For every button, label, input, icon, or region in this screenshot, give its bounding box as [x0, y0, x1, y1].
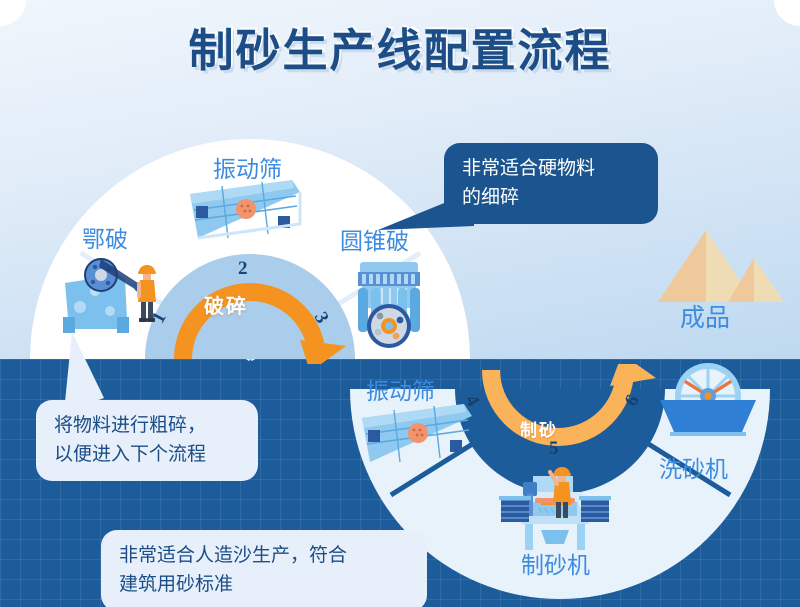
crushing-step-label-jaw: 鄂破	[82, 220, 128, 254]
crushing-step-number-2: 2	[238, 258, 248, 280]
sandmaking-step-number-5: 5	[549, 438, 559, 460]
jaw-crusher-note: 将物料进行粗碎， 以便进入下个流程	[36, 400, 258, 481]
sandmaking-step-label-screen: 振动筛	[366, 372, 435, 406]
vibrating-screen-icon-bottom	[358, 400, 478, 482]
cone-crusher-icon	[340, 258, 440, 354]
sandmaking-arc	[460, 364, 665, 474]
crushing-step-label-screen: 振动筛	[213, 150, 282, 184]
sand-washer-icon	[648, 360, 768, 450]
vibrating-screen-icon-top	[186, 176, 306, 258]
worker-sandmaker-icon	[548, 464, 576, 520]
sand-maker-note-line-1: 非常适合人造沙生产，符合	[119, 542, 409, 571]
crushing-arc-label: 破碎	[204, 290, 248, 319]
infographic-canvas: 制砂生产线配置流程 破碎 1 2 3 鄂破 振动筛 圆锥破	[0, 0, 800, 607]
sand-maker-note-line-2: 建筑用砂标准	[119, 571, 409, 600]
sandmaking-step-label-washer: 洗砂机	[659, 450, 728, 484]
cone-crusher-note-line-2: 的细碎	[462, 184, 640, 213]
cone-crusher-note-line-1: 非常适合硬物料	[462, 155, 640, 184]
jaw-crusher-note-line-2: 以便进入下个流程	[54, 441, 240, 470]
page-title: 制砂生产线配置流程	[0, 14, 800, 79]
cone-crusher-note: 非常适合硬物料 的细碎	[444, 143, 658, 224]
product-label: 成品	[680, 298, 730, 334]
jaw-crusher-note-line-1: 将物料进行粗碎，	[54, 412, 240, 441]
sandmaking-step-label-maker: 制砂机	[521, 546, 590, 580]
crushing-arc	[150, 254, 350, 364]
sand-maker-note: 非常适合人造沙生产，符合 建筑用砂标准	[101, 530, 427, 607]
